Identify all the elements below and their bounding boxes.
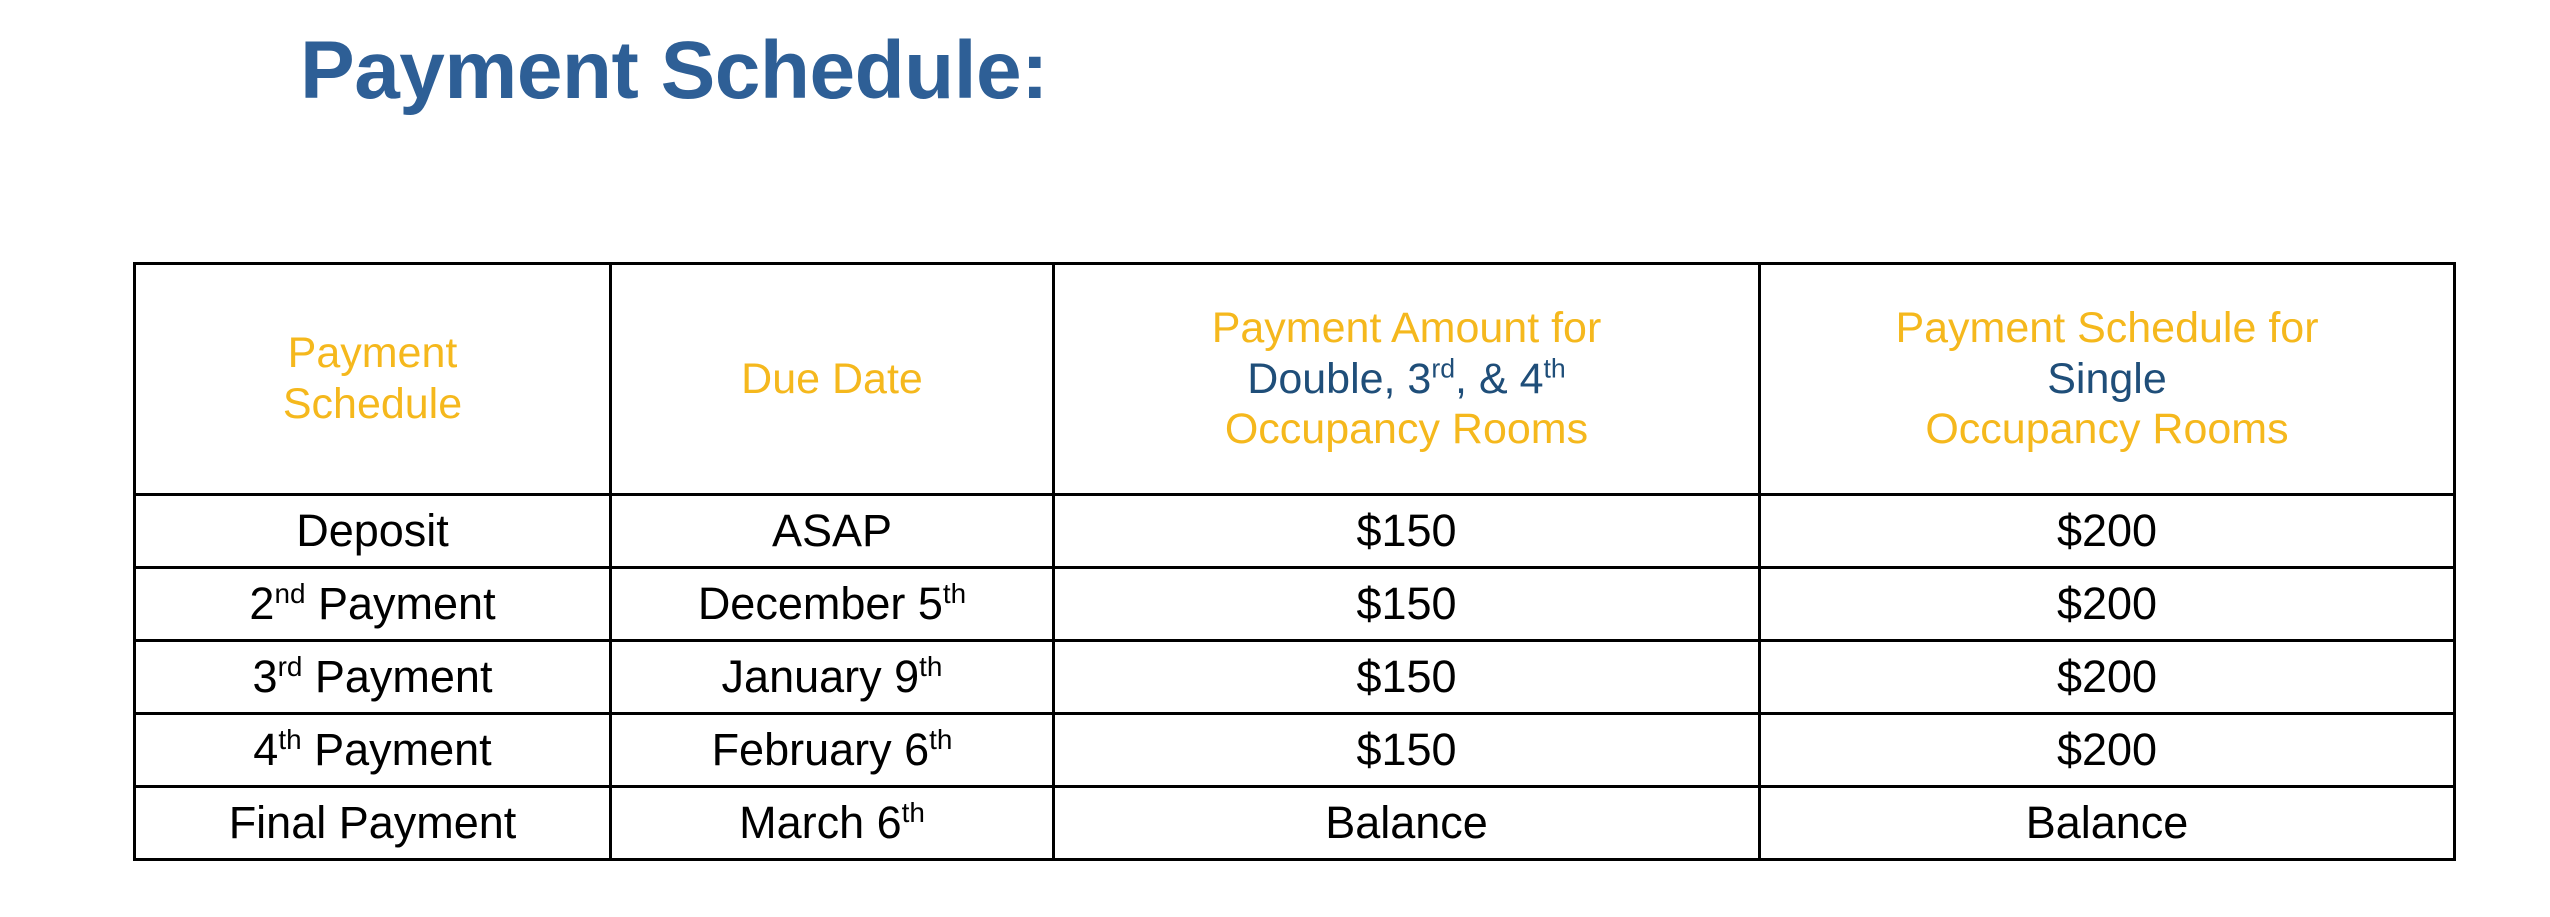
cell-text: 4 xyxy=(253,724,278,775)
ordinal-suffix: th xyxy=(943,578,966,609)
ordinal-suffix: th xyxy=(902,797,925,828)
table-row: 2nd Payment December 5th $150 $200 xyxy=(135,568,2455,641)
cell-double-amount: $150 xyxy=(1054,641,1760,714)
header-line-1: Payment Amount for xyxy=(1212,304,1602,352)
page-title: Payment Schedule: xyxy=(300,28,1048,114)
slide-canvas: Payment Schedule: Payment Schedule Due D… xyxy=(0,0,2550,917)
header-line-2-prefix: Double, 3 xyxy=(1247,355,1431,403)
table-row: 3rd Payment January 9th $150 $200 xyxy=(135,641,2455,714)
header-line-3: Occupancy Rooms xyxy=(1225,405,1588,453)
column-header-single-occupancy-amount: Payment Schedule for Single Occupancy Ro… xyxy=(1760,264,2455,495)
cell-text-tail: Payment xyxy=(302,724,492,775)
column-header-payment-schedule: Payment Schedule xyxy=(135,264,611,495)
cell-text: February 6 xyxy=(712,724,930,775)
cell-single-amount: Balance xyxy=(1760,787,2455,860)
table-header-row: Payment Schedule Due Date Payment Amount… xyxy=(135,264,2455,495)
cell-payment-schedule: 4th Payment xyxy=(135,714,611,787)
header-line-2: Single xyxy=(2047,355,2167,403)
cell-due-date: ASAP xyxy=(611,495,1054,568)
cell-double-amount: Balance xyxy=(1054,787,1760,860)
cell-payment-schedule: Final Payment xyxy=(135,787,611,860)
payment-schedule-table: Payment Schedule Due Date Payment Amount… xyxy=(133,262,2456,861)
ordinal-suffix: nd xyxy=(274,578,305,609)
header-line-1: Due Date xyxy=(741,355,923,403)
cell-single-amount: $200 xyxy=(1760,495,2455,568)
ordinal-suffix: th xyxy=(929,724,952,755)
ordinal-suffix-rd: rd xyxy=(1431,353,1455,383)
cell-text: January 9 xyxy=(722,651,920,702)
table-body: Deposit ASAP $150 $200 2nd Payment Decem… xyxy=(135,495,2455,860)
header-line-1: Payment Schedule for xyxy=(1895,304,2318,352)
cell-payment-schedule: 2nd Payment xyxy=(135,568,611,641)
cell-due-date: March 6th xyxy=(611,787,1054,860)
ordinal-suffix: th xyxy=(278,724,301,755)
cell-payment-schedule: Deposit xyxy=(135,495,611,568)
payment-schedule-table-wrapper: Payment Schedule Due Date Payment Amount… xyxy=(133,262,2453,861)
cell-text: Deposit xyxy=(296,505,449,556)
cell-text-tail: Payment xyxy=(302,651,492,702)
cell-double-amount: $150 xyxy=(1054,495,1760,568)
cell-text: March 6 xyxy=(739,797,902,848)
table-row: Final Payment March 6th Balance Balance xyxy=(135,787,2455,860)
table-header: Payment Schedule Due Date Payment Amount… xyxy=(135,264,2455,495)
cell-double-amount: $150 xyxy=(1054,714,1760,787)
cell-text-tail: Payment xyxy=(305,578,495,629)
cell-text: ASAP xyxy=(772,505,892,556)
table-row: Deposit ASAP $150 $200 xyxy=(135,495,2455,568)
cell-text: Final Payment xyxy=(229,797,517,848)
ordinal-suffix: th xyxy=(919,651,942,682)
cell-single-amount: $200 xyxy=(1760,568,2455,641)
table-row: 4th Payment February 6th $150 $200 xyxy=(135,714,2455,787)
header-line-2: Schedule xyxy=(283,380,462,428)
cell-text: December 5 xyxy=(698,578,943,629)
cell-due-date: January 9th xyxy=(611,641,1054,714)
header-line-3: Occupancy Rooms xyxy=(1925,405,2288,453)
header-line-2-middle: , & 4 xyxy=(1455,355,1543,403)
cell-payment-schedule: 3rd Payment xyxy=(135,641,611,714)
ordinal-suffix-th: th xyxy=(1543,353,1565,383)
cell-due-date: December 5th xyxy=(611,568,1054,641)
cell-due-date: February 6th xyxy=(611,714,1054,787)
header-line-1: Payment xyxy=(288,329,458,377)
cell-single-amount: $200 xyxy=(1760,641,2455,714)
cell-text: 2 xyxy=(249,578,274,629)
ordinal-suffix: rd xyxy=(278,651,303,682)
column-header-due-date: Due Date xyxy=(611,264,1054,495)
cell-text: 3 xyxy=(253,651,278,702)
cell-single-amount: $200 xyxy=(1760,714,2455,787)
header-line-2: Double, 3rd, & 4th xyxy=(1247,355,1565,403)
cell-double-amount: $150 xyxy=(1054,568,1760,641)
column-header-double-occupancy-amount: Payment Amount for Double, 3rd, & 4th Oc… xyxy=(1054,264,1760,495)
